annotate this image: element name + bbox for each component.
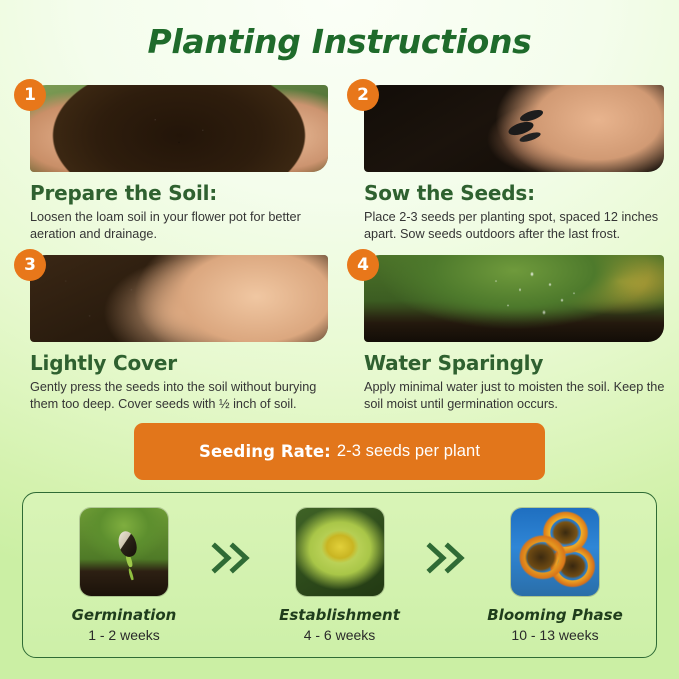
blooming-sunflowers-photo	[511, 508, 599, 596]
timeline-stage-duration-2: 4 - 6 weeks	[304, 627, 376, 643]
young-sunflower-bud-photo	[296, 508, 384, 596]
step-number-badge-2: 2	[347, 79, 379, 111]
timeline-stage-name-1: Germination	[72, 606, 177, 624]
timeline-stage-germination: Germination 1 - 2 weeks	[49, 507, 199, 643]
water-splashing-on-soil-photo	[364, 255, 664, 342]
step-card-3: 3 Lightly Cover Gently press the seeds i…	[0, 249, 339, 421]
hand-holding-seeds-over-soil-photo	[364, 85, 664, 172]
step-heading-2: Sow the Seeds:	[364, 181, 665, 205]
double-chevron-right-icon	[424, 541, 470, 575]
step-body-3: Gently press the seeds into the soil wit…	[30, 379, 325, 412]
timeline-thumb-germination	[79, 507, 169, 597]
step-heading-3: Lightly Cover	[30, 351, 325, 375]
sprouting-seedling-photo	[80, 508, 168, 596]
double-chevron-right-icon	[209, 541, 255, 575]
hands-holding-soil-in-pot-photo	[30, 85, 328, 172]
step-number-badge-4: 4	[347, 249, 379, 281]
step-card-1: 1 Prepare the Soil: Loosen the loam soil…	[0, 79, 339, 249]
timeline-thumb-establishment	[295, 507, 385, 597]
step-heading-1: Prepare the Soil:	[30, 181, 325, 205]
steps-grid: 1 Prepare the Soil: Loosen the loam soil…	[0, 79, 679, 421]
step-number-badge-1: 1	[14, 79, 46, 111]
step-body-1: Loosen the loam soil in your flower pot …	[30, 209, 325, 242]
page-title: Planting Instructions	[0, 22, 679, 61]
step-number-badge-3: 3	[14, 249, 46, 281]
step-card-2: 2 Sow the Seeds: Place 2-3 seeds per pla…	[339, 79, 679, 249]
step-heading-4: Water Sparingly	[364, 351, 665, 375]
timeline-stage-blooming: Blooming Phase 10 - 13 weeks	[480, 507, 630, 643]
timeline-stage-duration-3: 10 - 13 weeks	[511, 627, 598, 643]
timeline-stage-name-3: Blooming Phase	[487, 606, 623, 624]
seeding-rate-label: Seeding Rate:	[199, 442, 331, 461]
seeding-rate-value: 2-3 seeds per plant	[337, 442, 480, 461]
timeline-stage-name-2: Establishment	[279, 606, 400, 624]
step-body-4: Apply minimal water just to moisten the …	[364, 379, 665, 412]
growth-timeline: Germination 1 - 2 weeks Establishment 4 …	[22, 492, 657, 658]
step-card-4: 4 Water Sparingly Apply minimal water ju…	[339, 249, 679, 421]
timeline-thumb-blooming	[510, 507, 600, 597]
step-photo-1	[30, 85, 328, 172]
hands-patting-soil-photo	[30, 255, 328, 342]
step-photo-2	[364, 85, 664, 172]
step-photo-4	[364, 255, 664, 342]
timeline-stage-duration-1: 1 - 2 weeks	[88, 627, 160, 643]
seeding-rate-banner: Seeding Rate: 2-3 seeds per plant	[134, 423, 545, 480]
step-body-2: Place 2-3 seeds per planting spot, space…	[364, 209, 665, 242]
planting-instructions-infographic: Planting Instructions 1 Prepare the Soil…	[0, 0, 679, 679]
timeline-stage-establishment: Establishment 4 - 6 weeks	[265, 507, 415, 643]
step-photo-3	[30, 255, 328, 342]
